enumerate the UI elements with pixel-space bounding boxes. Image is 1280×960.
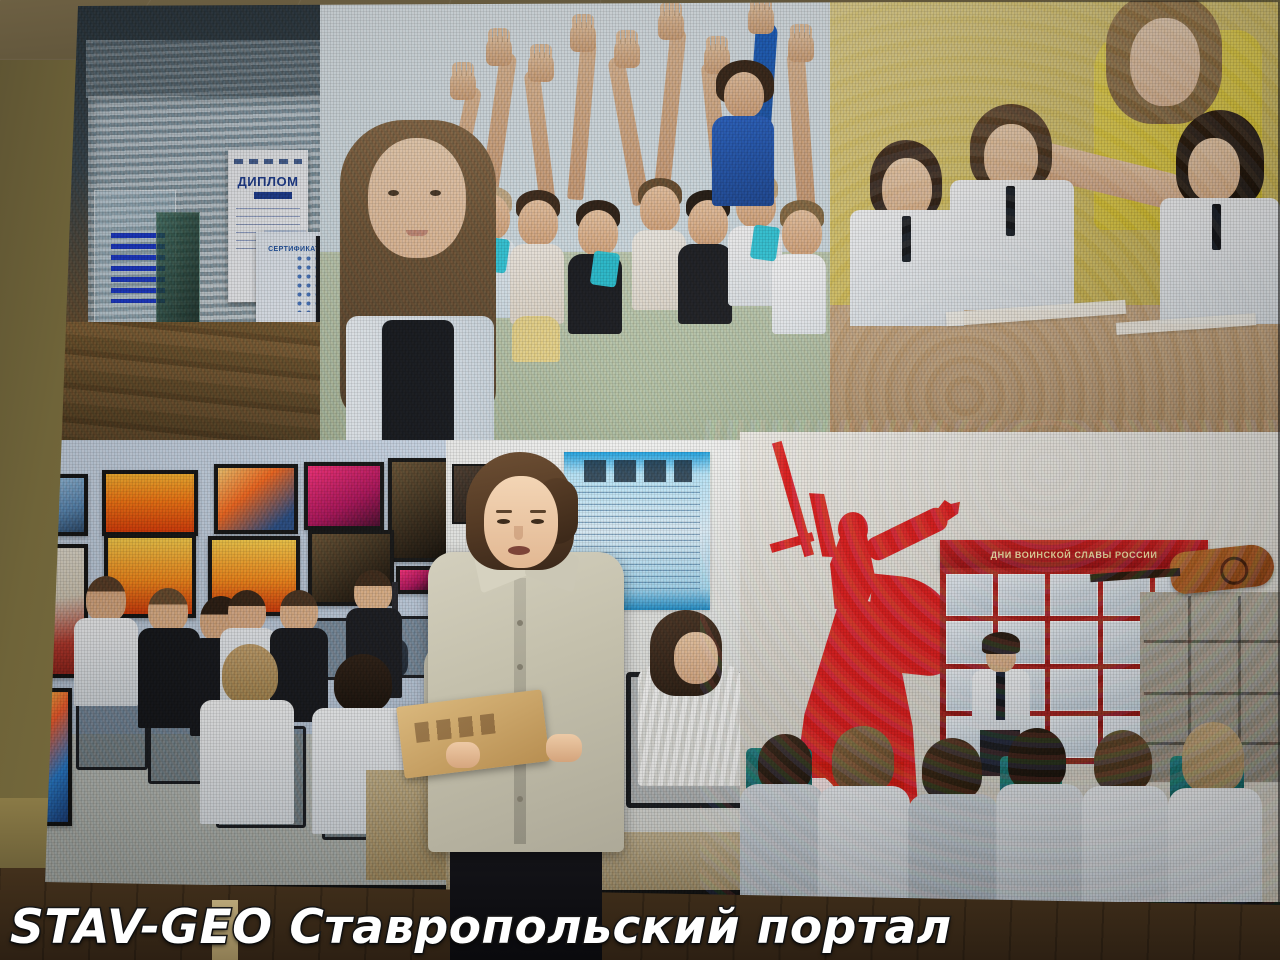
child-head: [782, 210, 822, 256]
shelf-line: [1144, 692, 1280, 695]
shirt-button: [517, 796, 523, 802]
audience-head: [832, 726, 894, 792]
selfie-woman-tshirt: [382, 320, 454, 450]
audience-body: [996, 784, 1084, 902]
student-head: [86, 576, 126, 622]
student-head: [354, 570, 392, 612]
counselor-body: [712, 116, 774, 206]
board-photo: [946, 574, 993, 616]
raised-hand: [614, 38, 640, 68]
child-body: [510, 244, 564, 324]
student-head: [228, 590, 266, 632]
violin-soundhole: [1219, 555, 1250, 586]
student-tie: [1006, 186, 1015, 236]
board-photo: [1050, 621, 1097, 663]
eye-left: [497, 519, 510, 524]
audience-row: [740, 732, 1280, 902]
watermark-text: STAV-GEO Ставропольский портал: [10, 903, 952, 952]
glass-award-dark: [156, 212, 200, 326]
nose: [514, 526, 523, 540]
artwork-frame: [102, 470, 198, 536]
student-tie: [1212, 204, 1221, 250]
audience-head: [922, 738, 982, 800]
raised-hand: [486, 36, 512, 66]
student-head: [148, 588, 188, 632]
audience-body: [908, 794, 998, 902]
screenshot-root: ДИПЛОМ СЕРТИФИКАТ: [0, 0, 1280, 960]
audience-head: [1008, 728, 1066, 790]
certificate-document: СЕРТИФИКАТ: [256, 232, 322, 322]
child-head: [578, 210, 618, 256]
led-video-wall: ДИПЛОМ СЕРТИФИКАТ: [0, 0, 1280, 905]
student-seated: [74, 576, 142, 706]
child-head: [518, 200, 558, 246]
diploma-title: ДИПЛОМ: [228, 174, 308, 189]
diploma-badge: [254, 192, 292, 199]
seated-girl-white-sweater: [632, 610, 746, 810]
window-blinds-upper: [86, 40, 322, 98]
child-head: [640, 186, 680, 232]
shirt-button: [517, 620, 523, 626]
student-center: [950, 104, 1080, 334]
clipboard-notes: [414, 713, 500, 743]
diploma-logo-row: [234, 159, 302, 164]
child-body: [772, 254, 826, 334]
student-body: [74, 618, 138, 706]
outstretched-arm: [863, 504, 951, 563]
raised-hand: [528, 52, 554, 82]
child-shorts: [512, 316, 560, 362]
student-body: [200, 700, 294, 824]
child-neck-scarf: [590, 250, 620, 287]
teacher-face: [1130, 18, 1200, 106]
presenter-left-hand: [446, 742, 480, 768]
selfie-woman-face: [368, 138, 466, 258]
audience-body: [818, 786, 910, 902]
panel-bottom-right-assembly: 80 ДНИ ВОИНСКОЙ СЛАВЫ РОССИИ: [740, 432, 1280, 902]
panel-top-right-classroom: [830, 0, 1280, 435]
mouth: [406, 230, 428, 236]
eye-left: [388, 190, 399, 196]
raised-hand: [788, 32, 814, 62]
presenter-girl: [418, 452, 638, 960]
student-back-row: [200, 644, 296, 824]
audience-head: [1182, 722, 1244, 792]
presenter-right-hand: [546, 734, 582, 762]
student-head: [222, 644, 278, 704]
raised-hand: [748, 4, 774, 34]
board-photo: [998, 574, 1045, 616]
presenter-face: [484, 476, 558, 568]
eyebrow-left: [496, 510, 512, 513]
certificate-title: СЕРТИФИКАТ: [256, 246, 322, 253]
child-head: [688, 200, 728, 246]
child-neck-scarf: [750, 224, 780, 261]
counselor-head: [724, 72, 764, 118]
shirt-button: [517, 664, 523, 670]
panel-top-center-selfie: [320, 0, 832, 450]
raised-hand: [658, 10, 684, 40]
artwork-frame: [304, 462, 384, 530]
presenter-hair: [982, 632, 1020, 654]
artwork-frame: [214, 464, 298, 534]
student-head: [334, 654, 392, 712]
audience-body: [1168, 788, 1262, 902]
audience-head: [1094, 730, 1152, 792]
red-banner: ДНИ ВОИНСКОЙ СЛАВЫ РОССИИ: [940, 540, 1208, 570]
seated-girl-face: [674, 632, 718, 684]
student-tie: [902, 216, 911, 262]
banner-text: ДНИ ВОИНСКОЙ СЛАВЫ РОССИИ: [940, 540, 1208, 570]
shelf-line: [1144, 640, 1280, 643]
student-face: [1188, 138, 1240, 202]
selfie-woman: [340, 120, 500, 450]
student-right: [1160, 114, 1280, 334]
eye-right: [531, 519, 544, 524]
child-body: [678, 244, 732, 324]
eye-right: [430, 190, 441, 196]
panel-bottom-left-gallery: [30, 440, 450, 885]
panel-top-left-awards: ДИПЛОМ СЕРТИФИКАТ: [60, 0, 322, 470]
presenter-tie: [996, 672, 1005, 720]
student-head: [280, 590, 318, 632]
eyebrow-right: [530, 510, 546, 513]
mouth: [508, 546, 530, 555]
raised-hand: [450, 70, 476, 100]
board-photo: [1050, 669, 1097, 711]
audience-body: [1082, 786, 1168, 902]
audience-body: [740, 784, 824, 902]
raised-hand: [570, 22, 596, 52]
